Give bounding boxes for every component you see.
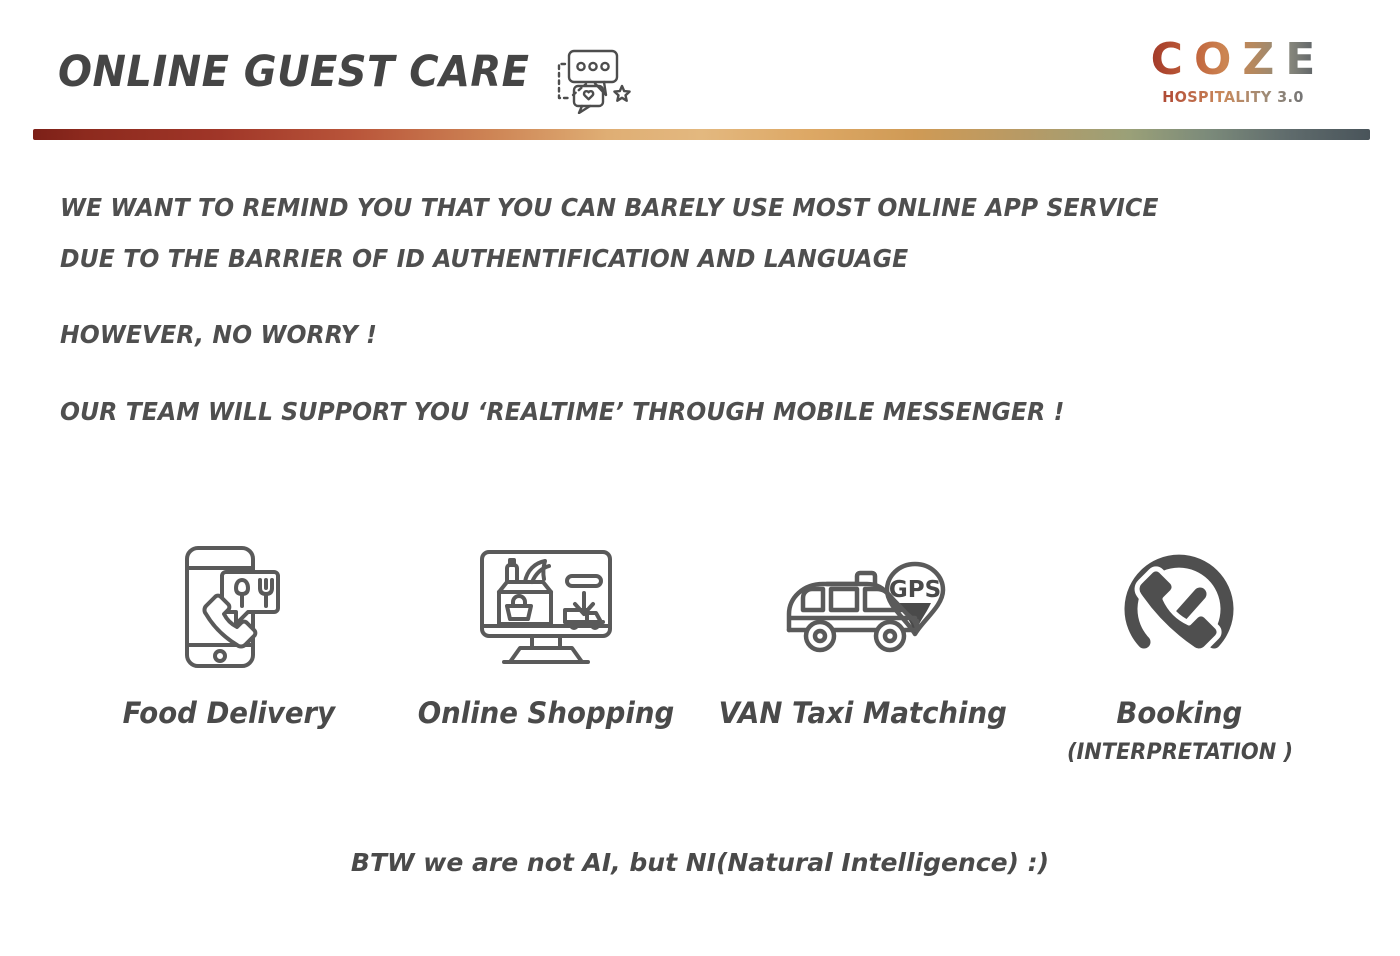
brand-wordmark: COZE: [1128, 38, 1338, 82]
body-line-1: WE WANT TO REMIND YOU THAT YOU CAN BAREL…: [60, 193, 1158, 222]
footer-note: BTW we are not AI, but NI(Natural Intell…: [0, 848, 1400, 877]
body-line-4: OUR TEAM WILL SUPPORT YOU ‘REALTIME’ THR…: [60, 397, 1064, 426]
service-item-booking: Booking (INTERPRETATION ): [1021, 540, 1338, 765]
service-item-van-taxi-matching: GPS: [704, 540, 1021, 730]
service-sublabel: (INTERPRETATION ): [1066, 740, 1292, 765]
service-label: Food Delivery: [122, 696, 334, 730]
service-item-online-shopping: Online Shopping: [387, 540, 704, 730]
brand-tagline: HOSPITALITY 3.0: [1132, 88, 1334, 106]
body-line-2: DUE TO THE BARRIER OF ID AUTHENTIFICATIO…: [60, 244, 908, 273]
desktop-online-shopping-icon: [477, 540, 615, 670]
service-item-food-delivery: Food Delivery: [70, 540, 387, 730]
service-label: Online Shopping: [417, 696, 673, 730]
van-taxi-gps-icon: GPS: [775, 540, 951, 670]
gradient-divider: [33, 129, 1370, 140]
slide-header: ONLINE GUEST CARE CO: [0, 0, 1400, 150]
chat-bubbles-icon: [546, 46, 638, 114]
brand-logo: COZE HOSPITALITY 3.0: [1128, 38, 1338, 106]
page-title: ONLINE GUEST CARE: [58, 47, 529, 97]
body-line-3: HOWEVER, NO WORRY !: [60, 320, 377, 349]
phone-check-booking-icon: [1118, 540, 1242, 670]
svg-text:GPS: GPS: [888, 577, 940, 603]
service-label: Booking: [1117, 696, 1243, 730]
services-row: Food Delivery: [70, 540, 1340, 765]
service-label: VAN Taxi Matching: [718, 696, 1006, 730]
smartphone-food-delivery-icon: [174, 540, 284, 670]
